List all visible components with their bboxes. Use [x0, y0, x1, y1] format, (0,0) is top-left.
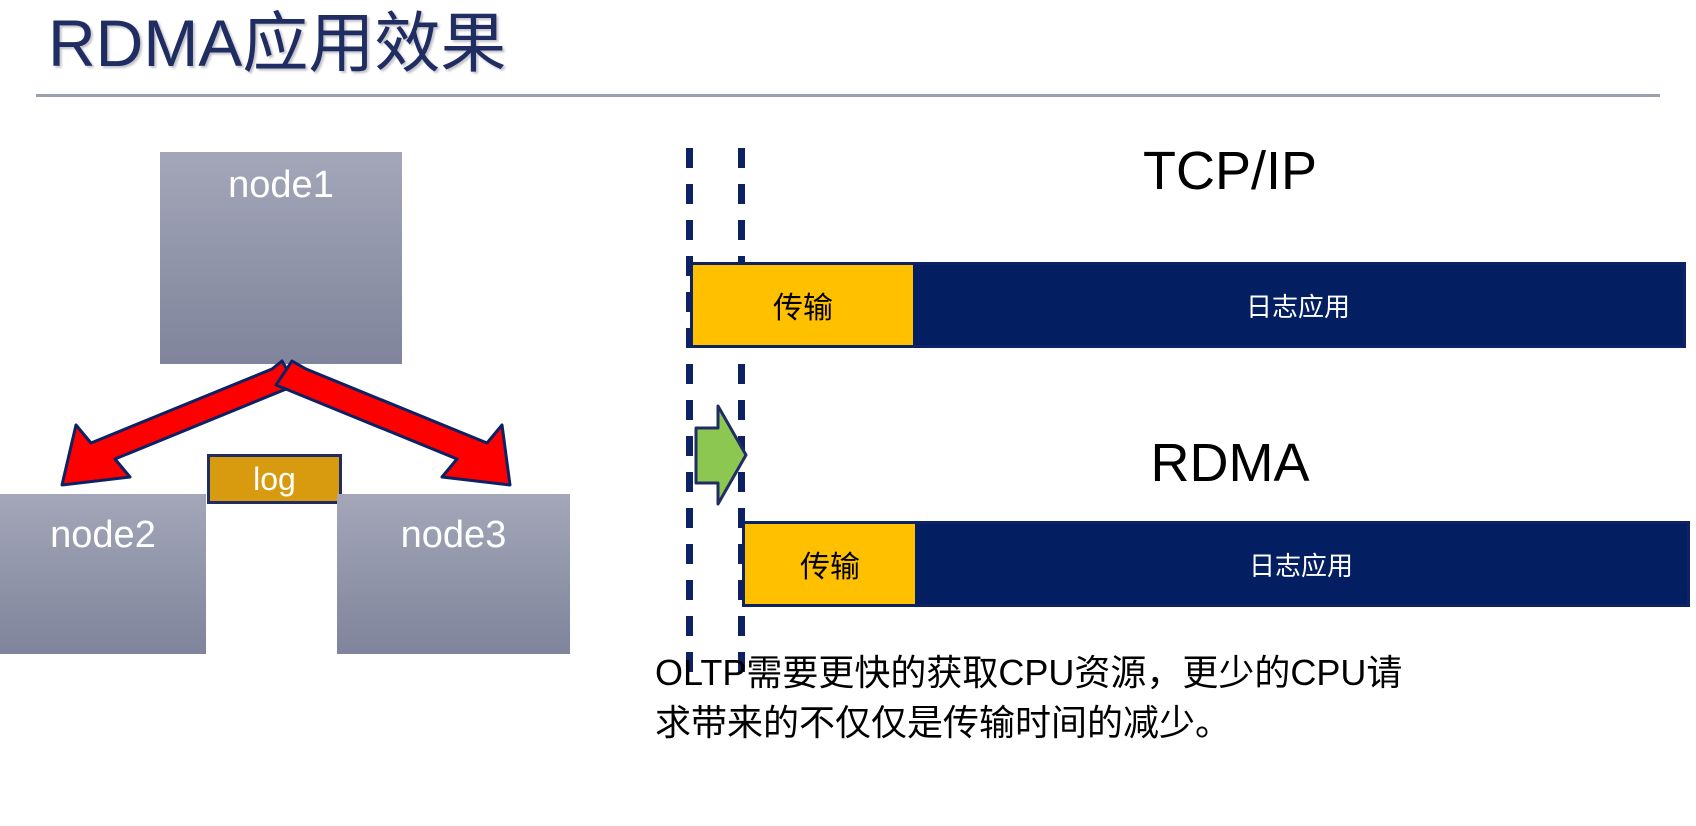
log-box: log — [207, 454, 342, 504]
title-divider — [36, 94, 1660, 97]
rdma-timeline-bar: 传输 日志应用 — [742, 521, 1690, 607]
caption-line-2: 求带来的不仅仅是传输时间的减少。 — [655, 698, 1675, 748]
node1-box: node1 — [160, 152, 402, 364]
rdma-app-segment: 日志应用 — [915, 524, 1687, 604]
node3-box: node3 — [337, 494, 570, 654]
page-title: RDMA应用效果 — [48, 2, 506, 84]
node3-label: node3 — [401, 514, 507, 556]
caption-line-1: OLTP需要更快的获取CPU资源，更少的CPU请 — [655, 648, 1675, 698]
rdma-protocol-label: RDMA — [960, 432, 1500, 494]
improvement-arrow-icon — [692, 404, 748, 506]
node2-box: node2 — [0, 494, 206, 654]
tcpip-app-segment: 日志应用 — [913, 265, 1683, 345]
node1-label: node1 — [228, 164, 334, 206]
tcpip-transmit-segment: 传输 — [693, 265, 913, 345]
tcpip-protocol-label: TCP/IP — [960, 140, 1500, 202]
log-label: log — [253, 461, 296, 497]
slide-canvas: RDMA应用效果 node1 log node2 node3 TCP/IP 传输… — [0, 0, 1696, 826]
node2-label: node2 — [50, 514, 156, 556]
caption-text: OLTP需要更快的获取CPU资源，更少的CPU请 求带来的不仅仅是传输时间的减少… — [655, 648, 1675, 748]
tcpip-timeline-bar: 传输 日志应用 — [690, 262, 1686, 348]
rdma-transmit-segment: 传输 — [745, 524, 915, 604]
